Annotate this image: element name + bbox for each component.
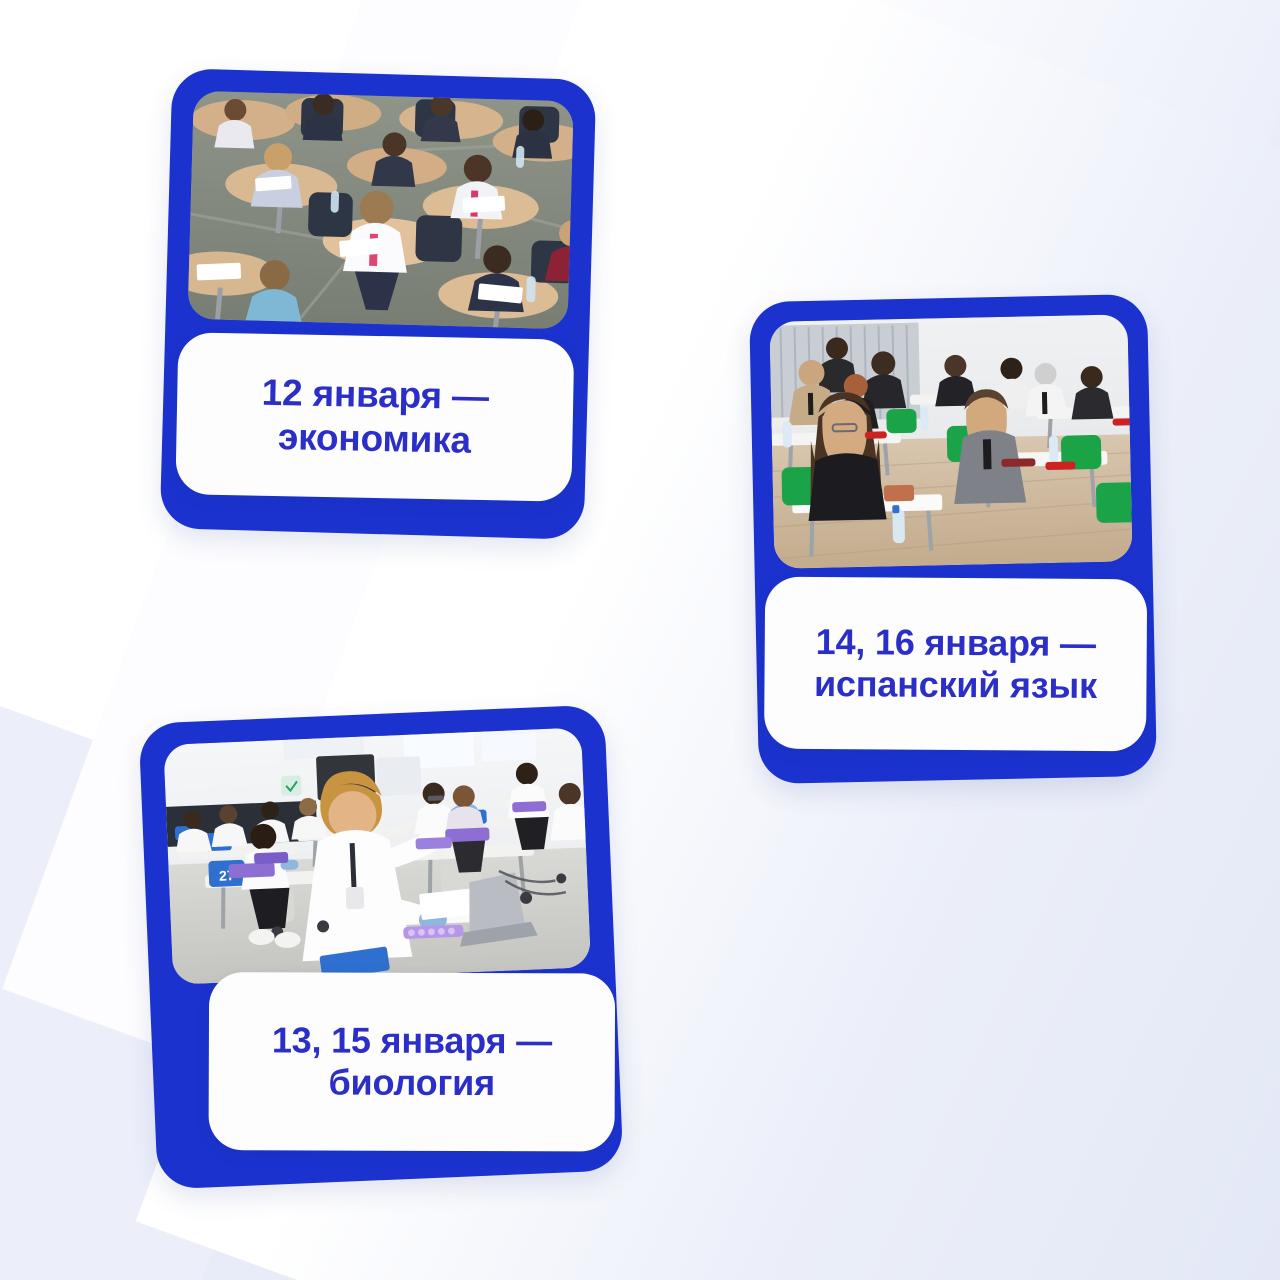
card-biology[interactable]: 27 30: [138, 704, 623, 1189]
label-biology: 13, 15 января — биология: [209, 972, 616, 1151]
label-spanish: 14, 16 января — испанский язык: [764, 577, 1147, 752]
label-text-spanish: 14, 16 января — испанский язык: [800, 620, 1111, 707]
photo-spanish: [769, 314, 1132, 568]
photo-biology: 27 30: [163, 727, 591, 984]
label-economics: 12 января — экономика: [175, 332, 574, 502]
card-economics[interactable]: 12 января — экономика: [160, 68, 597, 540]
label-text-biology: 13, 15 января — биология: [258, 1019, 566, 1105]
label-text-economics: 12 января — экономика: [247, 371, 504, 463]
photo-economics: [188, 91, 574, 330]
poster-canvas: 12 января — экономика: [0, 0, 1280, 1280]
card-spanish[interactable]: 14, 16 января — испанский язык: [749, 294, 1157, 784]
